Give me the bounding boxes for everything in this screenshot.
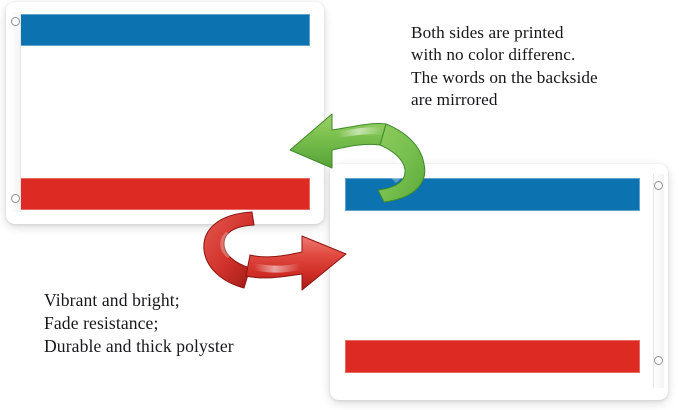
back-flag-grommet-top bbox=[654, 181, 663, 190]
product-infographic: Both sides are printed with no color dif… bbox=[0, 0, 679, 410]
front-flag-sheet bbox=[6, 2, 324, 224]
back-flag-grommet-bottom bbox=[654, 356, 663, 365]
front-flag-hoist-band bbox=[10, 12, 21, 212]
curved-arrow-left-icon bbox=[288, 98, 434, 210]
curved-arrow-right-icon bbox=[196, 206, 348, 300]
quality-callout-text: Vibrant and bright; Fade resistance; Dur… bbox=[44, 289, 334, 358]
front-flag-blue-stripe bbox=[18, 14, 310, 46]
front-flag-grommet-top bbox=[11, 17, 20, 26]
back-flag-red-stripe bbox=[345, 340, 640, 373]
front-flag-grommet-bottom bbox=[11, 194, 20, 203]
front-flag-card bbox=[6, 2, 324, 224]
printing-callout-text: Both sides are printed with no color dif… bbox=[411, 22, 673, 111]
